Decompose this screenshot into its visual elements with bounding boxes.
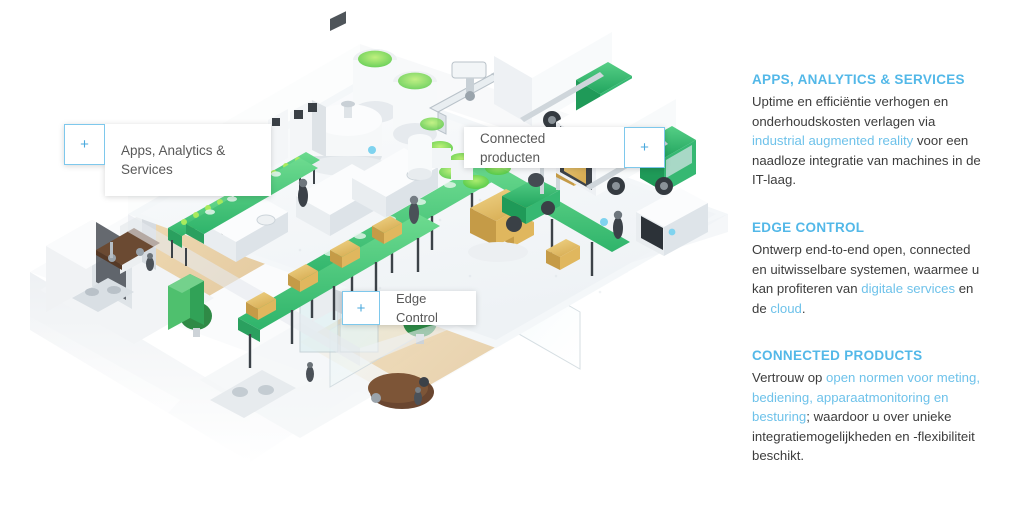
info-block-heading: CONNECTED PRODUCTS — [752, 348, 982, 363]
page-root: + Apps, Analytics & Services Connected p… — [0, 0, 1024, 532]
expand-plus-icon[interactable]: + — [64, 124, 105, 165]
info-block-heading: EDGE CONTROL — [752, 220, 982, 235]
callout-edge-control[interactable]: + Edge Control — [342, 291, 476, 325]
info-block-heading: APPS, ANALYTICS & SERVICES — [752, 72, 982, 87]
callout-label-panel[interactable]: Edge Control — [380, 291, 476, 325]
info-block-body: Vertrouw op open normen voor meting, bed… — [752, 368, 982, 466]
inline-link[interactable]: digitale services — [861, 281, 955, 296]
callout-connected-producten[interactable]: Connected producten + — [464, 127, 665, 168]
callout-label-panel[interactable]: Apps, Analytics & Services — [105, 124, 271, 196]
info-block-body: Ontwerp end-to-end open, connected en ui… — [752, 240, 982, 318]
callout-label: Apps, Analytics & Services — [121, 141, 255, 179]
callout-apps-analytics-services[interactable]: + Apps, Analytics & Services — [64, 124, 271, 196]
info-block-body: Uptime en efficiëntie verhogen en onderh… — [752, 92, 982, 190]
expand-plus-icon[interactable]: + — [624, 127, 665, 168]
info-block-apps-analytics-services: APPS, ANALYTICS & SERVICES Uptime en eff… — [752, 72, 982, 190]
info-block-edge-control: EDGE CONTROL Ontwerp end-to-end open, co… — [752, 220, 982, 318]
inline-link[interactable]: cloud — [770, 301, 802, 316]
expand-plus-icon[interactable]: + — [342, 291, 380, 325]
callout-label-panel[interactable]: Connected producten — [464, 127, 624, 168]
factory-illustration — [0, 0, 740, 532]
inline-link[interactable]: open normen voor meting, bediening, appa… — [752, 370, 980, 424]
isometric-factory-svg — [0, 0, 740, 532]
inline-link[interactable]: industrial augmented reality — [752, 133, 913, 148]
callout-label: Edge Control — [396, 289, 460, 327]
meeting-table — [368, 373, 434, 409]
info-block-connected-products: CONNECTED PRODUCTS Vertrouw op open norm… — [752, 348, 982, 466]
info-text-column: APPS, ANALYTICS & SERVICES Uptime en eff… — [752, 0, 992, 532]
callout-label: Connected producten — [480, 129, 608, 167]
